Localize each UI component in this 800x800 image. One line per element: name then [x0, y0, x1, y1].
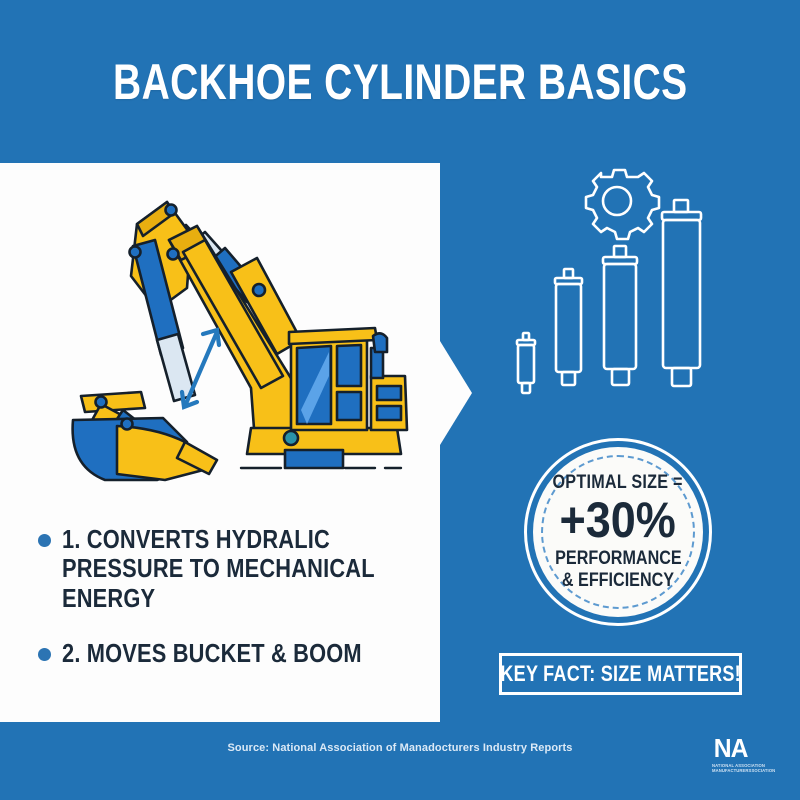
list-item: 1. CONVERTS HYDRALIC PRESSURE TO MECHANI…	[38, 525, 438, 613]
cylinder-size-chart	[495, 163, 785, 403]
optimal-size-badge: OPTIMAL SIZE = +30% PERFORMANCE & EFFICI…	[524, 438, 712, 626]
page-title: BACKHOE CYLINDER BASICS	[113, 53, 688, 111]
cylinder-medium	[555, 269, 582, 385]
cab-window-rear-upper	[337, 345, 361, 386]
bullet-dot-icon	[38, 648, 51, 661]
pivot-joint	[168, 249, 179, 260]
excavator-track	[285, 450, 343, 468]
pivot-joint	[166, 205, 177, 216]
list-item-label: 1. CONVERTS HYDRALIC PRESSURE TO MECHANI…	[62, 525, 378, 613]
logo-subtext: NATIONAL ASSOCIATION MANUFACTURERSSOCIAT…	[712, 763, 782, 774]
pivot-joint	[284, 431, 298, 445]
badge-line-1: OPTIMAL SIZE =	[553, 472, 683, 494]
title-bar: BACKHOE CYLINDER BASICS	[0, 0, 800, 163]
infographic-canvas: BACKHOE CYLINDER BASICS	[0, 0, 800, 800]
cab-window-rear-lower	[337, 392, 361, 420]
badge-stat-value: +30%	[560, 495, 676, 546]
cylinder-small	[517, 333, 535, 393]
pivot-joint	[130, 247, 141, 258]
cylinder-xlarge	[662, 200, 701, 386]
badge-line-4: & EFFICIENCY	[562, 570, 674, 592]
excavator-cab	[289, 328, 377, 430]
list-item: 2. MOVES BUCKET & BOOM	[38, 639, 438, 668]
source-citation: Source: National Association of Manadoct…	[0, 742, 800, 754]
key-fact-label: KEY FACT: SIZE MATTERS!	[500, 661, 741, 687]
bullet-dot-icon	[38, 534, 51, 547]
excavator-bucket	[73, 418, 217, 480]
cylinder-large	[603, 246, 637, 385]
pivot-joint	[122, 419, 133, 430]
list-item-label: 2. MOVES BUCKET & BOOM	[62, 639, 362, 668]
gear-icon	[586, 170, 659, 239]
benefits-list: 1. CONVERTS HYDRALIC PRESSURE TO MECHANI…	[38, 525, 438, 695]
organization-logo: NA NATIONAL ASSOCIATION MANUFACTURERSSOC…	[712, 735, 782, 781]
pivot-joint	[253, 284, 265, 296]
backhoe-excavator-illustration	[45, 180, 445, 500]
pivot-joint	[96, 397, 107, 408]
logo-mark: NA	[714, 735, 781, 761]
key-fact-box: KEY FACT: SIZE MATTERS!	[499, 653, 742, 695]
excavator-body	[247, 428, 401, 468]
badge-line-3: PERFORMANCE	[555, 548, 682, 570]
badge-content: OPTIMAL SIZE = +30% PERFORMANCE & EFFICI…	[524, 438, 712, 626]
excavator-engine-housing	[371, 333, 407, 430]
